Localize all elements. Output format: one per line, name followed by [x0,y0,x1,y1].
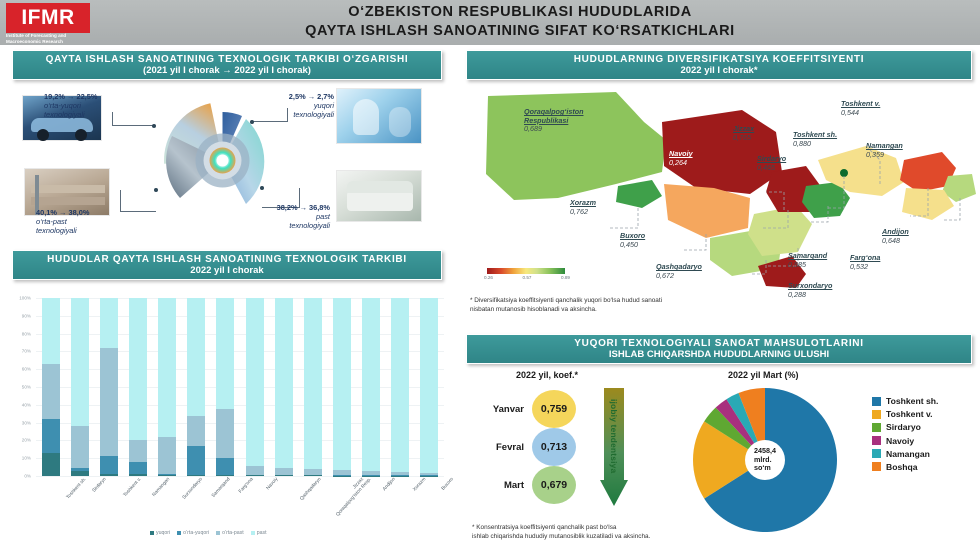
map-label-qoraqalpogiston-name: Qoraqalpog‘iston Respublikasi [524,107,584,125]
legend-label: yuqori [156,530,170,536]
pie-legend-item[interactable]: Toshkent sh. [872,396,938,406]
map-label-jizzax-value: 0,765 [733,134,754,143]
trend-arrow-text: ijobiy tendentsiya [600,388,628,484]
panel-header-diversification-line1: HUDUDLARNING DIVERSIFIKATSIYA KOEFFITSIY… [471,54,967,65]
legend-swatch-icon [150,531,154,535]
leader-dot-orta-past [154,188,158,192]
pie-legend-item[interactable]: Navoiy [872,436,938,446]
photo-lab [336,88,422,144]
panel-header-tech-structure: QAYTA ISHLASH SANOATINING TEXNOLOGIK TAR… [12,50,442,80]
page-title: O‘ZBEKISTON RESPUBLIKASI HUDUDLARIDA QAY… [240,3,800,41]
map-label-buxoro-value: 0,450 [620,241,645,250]
pie-legend-swatch-icon [872,436,881,445]
barchart-segment [129,440,147,461]
barchart-gridline [36,351,444,352]
donut-label-yuqori-name: yuqori texnologiyali [293,101,334,119]
barchart-legend: yuqorio‘rta-yuqorio‘rta-pastpast [150,530,267,536]
map-label-sirdaryo-name: Sirdaryo [757,154,786,163]
barchart-bar[interactable] [100,298,118,476]
barchart-segment [129,462,147,474]
map-label-qoraqalpogiston: Qoraqalpog‘iston Respublikasi 0,689 [524,108,584,134]
barchart-xtick-label: Buxoro [441,477,455,492]
barchart-legend-item[interactable]: past [251,530,267,536]
map-label-toshkent-sh-value: 0,880 [793,140,837,149]
barchart-legend-item[interactable]: yuqori [150,530,170,536]
barchart-ytick-label: 100% [14,296,33,301]
pie-legend-label: Navoiy [886,436,914,446]
legend-swatch-icon [177,531,181,535]
page-title-line1: O‘ZBEKISTON RESPUBLIKASI HUDUDLARIDA [240,3,800,22]
colorbar-mid: 0.57 [523,275,532,280]
barchart-bar[interactable] [129,298,147,476]
barchart-gridline [36,387,444,388]
barchart-gridline [36,423,444,424]
map-label-fargona-name: Farg‘ona [850,253,880,262]
coef-value-mart: 0,679 [532,466,576,504]
leader-dot-orta-yuqori [152,124,156,128]
map-colorbar [487,268,565,274]
barchart-xtick-label: Sirdaryo [92,477,108,494]
photo-furniture [336,170,422,222]
barchart-gridline [36,369,444,370]
map-label-xorazm-name: Xorazm [570,198,596,207]
barchart-gridline [36,316,444,317]
map-label-sirdaryo: Sirdaryo 0,465 [757,155,786,172]
barchart-segment [304,298,322,469]
barchart-gridline [36,298,444,299]
barchart-segment [216,458,234,475]
pie-legend-label: Boshqa [886,462,918,472]
barchart-segment [187,475,205,476]
barchart-segment [100,456,118,475]
barchart-ytick-label: 20% [14,438,33,443]
leader-dot-past [260,186,264,190]
donut-label-orta-yuqori: 19,2% → 22,5% o‘rta-yuqori texnologiyali [44,92,140,120]
barchart-bar[interactable] [246,298,264,476]
coef-row-fevral: Fevral 0,713 [470,428,576,466]
barchart-legend-item[interactable]: o‘rta-yuqori [177,530,209,536]
map-label-qashqadaryo-name: Qashqadaryo [656,262,702,271]
barchart-bar[interactable] [304,298,322,476]
map-label-namangan: Namangan 0,359 [866,142,903,159]
barchart-ytick-label: 30% [14,420,33,425]
coef-subtitle: 2022 yil, koef.* [516,370,578,380]
map-colorbar-ticks: 0.26 0.57 0.89 [484,275,570,280]
barchart-segment [129,474,147,476]
barchart-segment [100,298,118,348]
map-label-navoiy: Navoiy 0,264 [669,150,693,167]
pie-legend-swatch-icon [872,410,881,419]
donut-label-orta-yuqori-name: o‘rta-yuqori texnologiyali [44,101,85,119]
coef-row-mart: Mart 0,679 [470,466,576,504]
barchart-xtick-label: Toshkent v. [123,477,143,498]
map-label-andijon-name: Andijon [882,227,909,236]
coef-label-mart: Mart [470,480,524,491]
barchart-segment [275,468,293,475]
barchart-bar[interactable] [158,298,176,476]
donut-label-past-value: 38,2% → 36,8% [277,203,330,212]
barchart-xtick-label: Surxondaryo [182,477,204,501]
barchart-bar[interactable] [71,298,89,476]
map-label-qashqadaryo-value: 0,672 [656,272,702,281]
panel-header-regions-line2: 2022 yil I chorak [17,265,437,276]
barchart-segment [158,298,176,437]
barchart-segment [246,298,264,466]
map-label-samarqand-name: Samarqand [788,251,827,260]
pie-legend-swatch-icon [872,449,881,458]
barchart-segment [216,475,234,476]
panel-header-hightech-line2: ISHLAB CHIQARSHDA HUDUDLARNING ULUSHI [471,349,967,360]
trend-arrow: ijobiy tendentsiya [600,388,628,506]
barchart-xtick-label: Andijon [383,477,397,492]
donut-label-past-name: past texnologiyali [289,212,330,230]
barchart-xtick-label: Namangan [152,477,171,498]
panel-header-regions-line1: HUDUDLAR QAYTA ISHLASH SANOATINING TEXNO… [17,254,437,265]
barchart-segment [333,298,351,470]
barchart-segment [246,466,264,475]
barchart-bar[interactable] [42,298,60,476]
barchart-gridline [36,334,444,335]
map-region-xorazm [616,180,662,208]
pie-legend-item[interactable]: Namangan [872,449,938,459]
coef-value-yanvar: 0,759 [532,390,576,428]
barchart-segment [129,298,147,440]
map-label-fargona: Farg‘ona 0,532 [850,254,880,271]
barchart-segment [246,475,264,476]
pie-legend-swatch-icon [872,462,881,471]
ifmr-logo: IFMR [6,3,90,33]
map-label-samarqand-value: 0,585 [788,261,827,270]
barchart-segment [362,298,380,471]
barchart-bar[interactable] [333,298,351,476]
legend-label: o‘rta-yuqori [183,530,209,536]
map-label-buxoro: Buxoro 0,450 [620,232,645,249]
pie-footnote: * Konsentratsiya koeffitsiyenti qanchali… [472,524,872,541]
pie-legend-label: Toshkent sh. [886,396,938,406]
barchart-gridline [36,405,444,406]
pie-legend-label: Sirdaryo [886,422,921,432]
barchart-segment [42,453,60,476]
coef-label-yanvar: Yanvar [470,404,524,415]
barchart-segment [42,419,60,453]
panel-header-diversification-line2: 2022 yil I chorak* [471,65,967,76]
barchart-xtick-label: Farg‘ona [238,477,254,494]
barchart-ytick-label: 40% [14,402,33,407]
pie-legend: Toshkent sh.Toshkent v.SirdaryoNavoiyNam… [872,396,938,472]
barchart-bar[interactable] [420,298,438,476]
map-label-andijon-value: 0,648 [882,237,909,246]
map-label-andijon: Andijon 0,648 [882,228,909,245]
barchart-xtick-label: Xorazm [412,477,427,493]
donut-label-orta-yuqori-value: 19,2% → 22,5% [44,92,97,101]
barchart-segment [187,416,205,446]
pie-legend-label: Namangan [886,449,930,459]
pie-legend-item[interactable]: Sirdaryo [872,422,938,432]
panel-header-diversification: HUDUDLARNING DIVERSIFIKATSIYA KOEFFITSIY… [466,50,972,80]
map-label-xorazm-value: 0,762 [570,208,596,217]
regions-tech-structure-barchart: 0%10%20%30%40%50%60%70%80%90%100%Toshken… [14,296,444,476]
barchart-segment [100,474,118,476]
map-label-jizzax-name: Jizzax [733,124,754,133]
logo-subtitle: Institute of Forecasting and Macroeconom… [6,33,96,44]
panel-header-tech-line1: QAYTA ISHLASH SANOATINING TEXNOLOGIK TAR… [17,54,437,65]
barchart-ytick-label: 80% [14,331,33,336]
donut-label-yuqori-value: 2,5% → 2,7% [289,92,334,101]
legend-label: o‘rta-past [222,530,244,536]
barchart-segment [158,475,176,476]
map-label-jizzax: Jizzax 0,765 [733,125,754,142]
donut-label-past: 38,2% → 36,8% past texnologiyali [250,203,330,231]
barchart-gridline [36,458,444,459]
barchart-ytick-label: 50% [14,385,33,390]
barchart-segment [71,426,89,468]
barchart-segment [420,298,438,473]
pie-legend-swatch-icon [872,397,881,406]
barchart-xtick-label: Samarqand [211,477,231,499]
donut-label-orta-past: 40,1% → 38,0% o‘rta-past texnologiyali [36,208,132,236]
donut-label-yuqori: 2,5% → 2,7% yuqori texnologiyali [262,92,334,120]
map-label-qashqadaryo: Qashqadaryo 0,672 [656,263,702,280]
barchart-bar[interactable] [391,298,409,476]
map-label-navoiy-value: 0,264 [669,159,693,168]
pie-center-label: 2458,4 mlrd. so‘m [745,440,785,480]
map-label-surxondaryo-name: Surxondaryo [788,281,832,290]
barchart-bar[interactable] [216,298,234,476]
page-title-line2: QAYTA ISHLASH SANOATINING SIFAT KO‘RSATK… [240,22,800,41]
coef-value-fevral: 0,713 [532,428,576,466]
logo-text: IFMR [21,6,74,30]
barchart-segment [187,446,205,475]
pie-legend-swatch-icon [872,423,881,432]
map-region-toshkent-sh [840,169,848,177]
barchart-segment [275,475,293,476]
map-region-samarqand [748,206,812,256]
map-label-fargona-value: 0,532 [850,263,880,272]
barchart-segment [275,298,293,468]
pie-center-value: 2458,4 mlrd. so‘m [754,447,776,472]
barchart-gridline [36,440,444,441]
barchart-segment [42,364,60,419]
trend-arrow-label: ijobiy tendentsiya [609,399,619,473]
pie-legend-item[interactable]: Boshqa [872,462,938,472]
map-label-buxoro-name: Buxoro [620,231,645,240]
barchart-segment [71,298,89,426]
map-label-toshkent-v: Toshkent v. 0,544 [841,100,880,117]
barchart-bar[interactable] [362,298,380,476]
donut-label-orta-past-value: 40,1% → 38,0% [36,208,89,217]
map-label-toshkent-sh: Toshkent sh. 0,880 [793,131,837,148]
barchart-bar[interactable] [275,298,293,476]
donut-core-hole [217,155,229,167]
map-label-toshkent-v-value: 0,544 [841,109,880,118]
legend-swatch-icon [251,531,255,535]
colorbar-min: 0.26 [484,275,493,280]
colorbar-max: 0.89 [561,275,570,280]
panel-header-hightech-line1: YUQORI TEXNOLOGIYALI SANOAT MAHSULOTLARI… [471,338,967,349]
donut-label-orta-past-name: o‘rta-past texnologiyali [36,217,77,235]
barchart-segment [42,298,60,364]
barchart-ytick-label: 10% [14,456,33,461]
barchart-ytick-label: 90% [14,313,33,318]
barchart-xtick-label: Navoiy [266,477,280,491]
pie-subtitle: 2022 yil Mart (%) [728,370,799,380]
barchart-segment [216,298,234,409]
barchart-ytick-label: 70% [14,349,33,354]
barchart-segment [158,437,176,474]
barchart-ytick-label: 60% [14,367,33,372]
map-label-qoraqalpogiston-value: 0,689 [524,125,584,134]
barchart-segment [216,409,234,459]
barchart-segment [391,298,409,472]
pie-legend-item[interactable]: Toshkent v. [872,409,938,419]
barchart-segment [187,298,205,415]
map-label-navoiy-name: Navoiy [669,149,693,158]
map-label-toshkent-v-name: Toshkent v. [841,99,880,108]
map-label-namangan-value: 0,359 [866,151,903,160]
map-label-samarqand: Samarqand 0,585 [788,252,827,269]
barchart-xtick-label: Qashqadaryo [300,477,323,502]
barchart-bar[interactable] [187,298,205,476]
map-label-xorazm: Xorazm 0,762 [570,199,596,216]
barchart-xtick-label: Toshkent sh. [66,477,88,500]
map-footnote: * Diversifikatsiya koeffitsiyenti qancha… [470,297,800,314]
legend-swatch-icon [216,531,220,535]
legend-label: past [257,530,267,536]
map-label-sirdaryo-value: 0,465 [757,164,786,173]
barchart-gridline [36,476,444,477]
barchart-segment [304,475,322,476]
map-label-toshkent-sh-name: Toshkent sh. [793,130,837,139]
leader-dot-yuqori [250,120,254,124]
barchart-legend-item[interactable]: o‘rta-past [216,530,244,536]
coef-row-yanvar: Yanvar 0,759 [470,390,576,428]
panel-header-tech-line2: (2021 yil I chorak → 2022 yil I chorak) [17,65,437,76]
coef-label-fevral: Fevral [470,442,524,453]
barchart-segment [100,348,118,456]
panel-header-hightech-share: YUQORI TEXNOLOGIYALI SANOAT MAHSULOTLARI… [466,334,972,364]
map-label-namangan-name: Namangan [866,141,903,150]
barchart-ytick-label: 0% [14,474,33,479]
barchart-segment [71,471,89,476]
panel-header-regions-structure: HUDUDLAR QAYTA ISHLASH SANOATINING TEXNO… [12,250,442,280]
pie-legend-label: Toshkent v. [886,409,932,419]
